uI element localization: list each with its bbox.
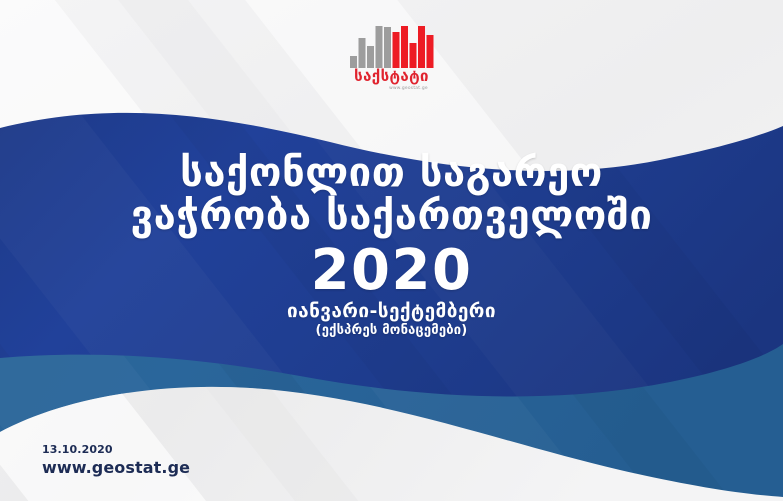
logo-bar bbox=[401, 26, 408, 68]
logo-bar bbox=[392, 32, 399, 68]
logo-url: www.geostat.ge bbox=[389, 86, 428, 91]
logo-bar bbox=[426, 35, 433, 68]
report-year: 2020 bbox=[0, 243, 783, 299]
title-line-1: საქონლით საგარეო bbox=[0, 152, 783, 195]
logo-wordmark: საქსტატი bbox=[354, 69, 429, 84]
report-cover: საქსტატი www.geostat.ge საქონლით საგარეო… bbox=[0, 0, 783, 501]
logo-bar bbox=[358, 38, 365, 68]
logo-bar bbox=[375, 26, 382, 68]
report-period: იანვარი-სექტემბერი bbox=[0, 301, 783, 323]
footer: 13.10.2020 www.geostat.ge bbox=[42, 443, 190, 478]
logo-bar bbox=[409, 43, 416, 68]
title-block: საქონლით საგარეო ვაჭრობა საქართველოში 20… bbox=[0, 152, 783, 339]
footer-website-url[interactable]: www.geostat.ge bbox=[42, 458, 190, 478]
logo-bar bbox=[367, 46, 374, 68]
logo-wordmark-group: საქსტატი www.geostat.ge bbox=[354, 69, 429, 91]
publication-date: 13.10.2020 bbox=[42, 443, 190, 457]
report-note: (ექსპრეს მონაცემები) bbox=[0, 324, 783, 339]
logo-bar bbox=[418, 26, 425, 68]
logo-bar-chart-icon bbox=[349, 26, 435, 68]
logo-bar bbox=[384, 27, 391, 68]
title-line-2: ვაჭრობა საქართველოში bbox=[0, 195, 783, 238]
geostat-logo: საქსტატი www.geostat.ge bbox=[0, 26, 783, 91]
